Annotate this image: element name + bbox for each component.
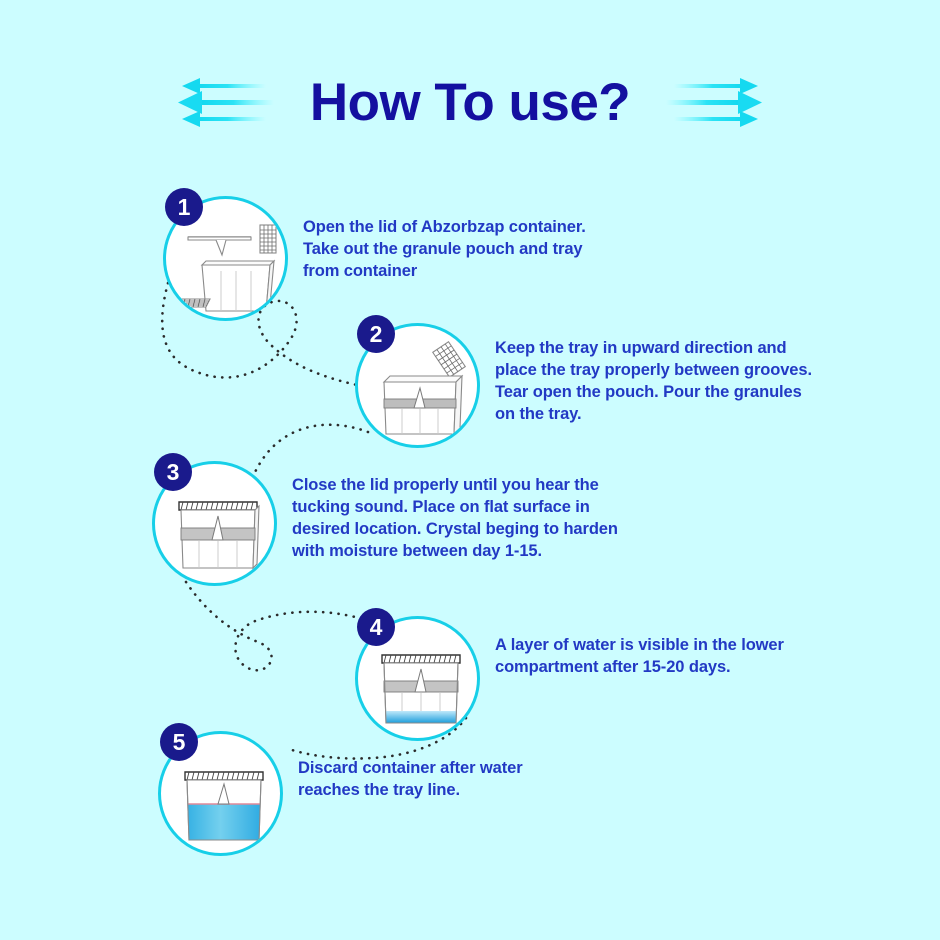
title-row: How To use? [0, 62, 940, 142]
step-2-number-badge: 2 [357, 315, 395, 353]
step-5-text: Discard container after water reaches th… [298, 758, 578, 802]
step-5: 5 Discard container after water reaches … [158, 723, 578, 853]
step-4-text: A layer of water is visible in the lower… [495, 635, 815, 679]
infographic-canvas: How To use? [0, 0, 940, 940]
step-1-text: Open the lid of Abzorbzap container. Tak… [303, 217, 593, 283]
step-3: 3 Close the lid properly until you hear … [152, 453, 622, 598]
page-title: How To use? [310, 76, 630, 129]
step-2-text: Keep the tray in upward direction and pl… [495, 338, 815, 426]
step-4-number-badge: 4 [357, 608, 395, 646]
step-2: 2 Keep the tray in upward direction and … [355, 315, 815, 455]
step-4: 4 A layer of water is visible in the low… [355, 608, 815, 738]
step-3-text: Close the lid properly until you hear th… [292, 475, 632, 563]
step-1-number-badge: 1 [165, 188, 203, 226]
left-arrows-icon [178, 73, 274, 131]
right-arrows-icon [666, 73, 762, 131]
step-3-number-badge: 3 [154, 453, 192, 491]
step-1: 1 Open the lid of Abzorbzap container. T… [163, 188, 583, 328]
step-5-number-badge: 5 [160, 723, 198, 761]
